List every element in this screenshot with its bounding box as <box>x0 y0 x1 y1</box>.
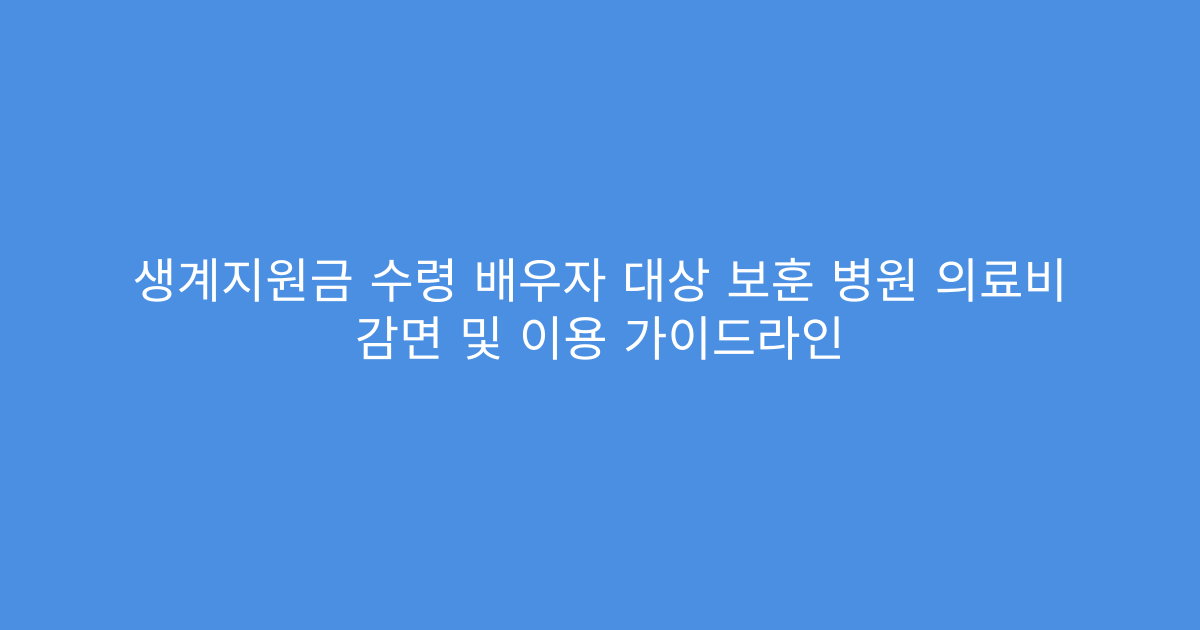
page-title-line-2: 감면 및 이용 가이드라인 <box>355 311 845 369</box>
page-title: 생계지원금 수령 배우자 대상 보훈 병원 의료비 감면 및 이용 가이드라인 <box>60 253 1140 369</box>
page-title-line-1: 생계지원금 수령 배우자 대상 보훈 병원 의료비 <box>132 253 1068 311</box>
og-card-canvas: 생계지원금 수령 배우자 대상 보훈 병원 의료비 감면 및 이용 가이드라인 <box>0 0 1200 630</box>
